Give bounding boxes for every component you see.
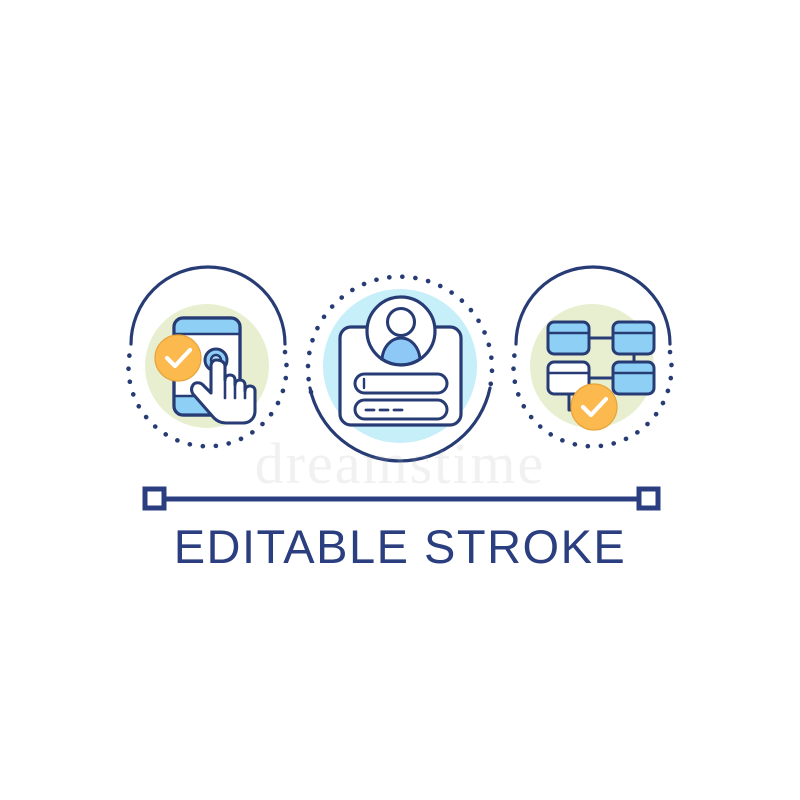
editable-stroke-path[interactable] [145, 489, 658, 508]
flow-node-top-right [613, 322, 654, 354]
anchor-point-right[interactable] [639, 489, 658, 508]
group-id-card [308, 277, 492, 461]
phone-top-bar [174, 318, 240, 334]
anchor-point-left[interactable] [145, 489, 164, 508]
group-mobile-approval [129, 267, 287, 446]
name-field[interactable] [355, 374, 447, 393]
concept-illustration [0, 0, 800, 800]
password-field[interactable] [355, 400, 447, 419]
flow-node-top-left [548, 322, 589, 354]
group-workflow [514, 267, 672, 446]
illustration-canvas: dreamstime EDITABLE STROKE [0, 0, 800, 800]
checkmark-badge-right [571, 384, 617, 430]
flow-node-bottom-right [613, 362, 654, 394]
avatar-icon [367, 297, 435, 365]
checkmark-badge-left [155, 335, 201, 381]
caption-editable-stroke: EDITABLE STROKE [0, 519, 800, 574]
